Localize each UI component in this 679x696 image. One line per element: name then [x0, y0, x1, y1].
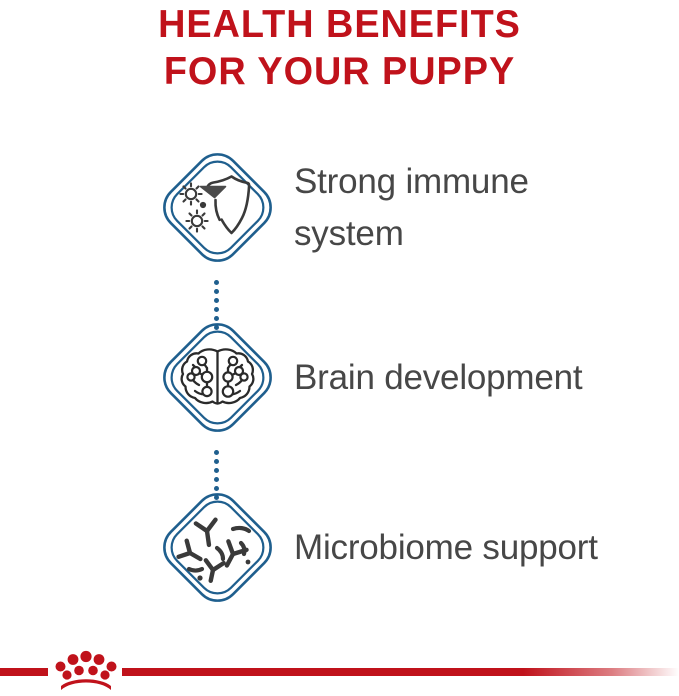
page-title: HEALTH BENEFITS FOR YOUR PUPPY: [0, 0, 679, 94]
connector-dot: [214, 280, 219, 285]
icon-slot-brain: [0, 315, 290, 440]
title-line-1: HEALTH BENEFITS: [10, 0, 669, 47]
footer-brand-bar: [0, 640, 679, 696]
connector-dot: [214, 450, 219, 455]
brain-network-icon: [155, 315, 280, 440]
benefit-item-microbiome: Microbiome support: [0, 485, 679, 610]
connector-dot: [214, 468, 219, 473]
icon-slot-microbiome: [0, 485, 290, 610]
benefits-list: Strong immune system: [0, 145, 679, 625]
connector-dot: [214, 459, 219, 464]
benefit-label-microbiome: Microbiome support: [294, 522, 679, 573]
royal-canin-crown-logo: [48, 640, 124, 696]
connector-dot: [214, 289, 219, 294]
icon-slot-immune: [0, 145, 290, 270]
immune-shield-icon: [155, 145, 280, 270]
benefit-item-immune: Strong immune system: [0, 145, 679, 270]
title-line-2: FOR YOUR PUPPY: [10, 47, 669, 94]
benefit-item-brain: Brain development: [0, 315, 679, 440]
benefit-label-immune: Strong immune system: [294, 156, 679, 260]
footer-bar-left-segment: [0, 668, 48, 676]
connector-dot: [214, 298, 219, 303]
footer-bar-right-segment: [122, 668, 679, 676]
benefit-label-brain: Brain development: [294, 352, 679, 403]
microbiome-bacteria-icon: [155, 485, 280, 610]
connector-dot: [214, 307, 219, 312]
connector-dot: [214, 477, 219, 482]
